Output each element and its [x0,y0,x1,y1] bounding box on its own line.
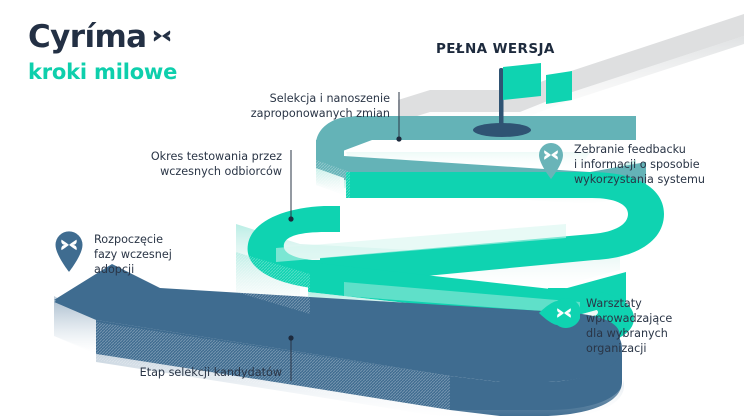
brand-subtitle: kroki milowe [28,62,288,83]
pin-text: Warsztaty wprowadzające dla wybranych or… [586,296,672,356]
callout-text: Okres testowania przez wczesnych odbiorc… [110,150,282,180]
callout-text: Etap selekcji kandydatów [110,366,282,381]
callout-text: Selekcja i nanoszenie zaproponowanych zm… [215,92,390,122]
brand-name: Cyríma [28,22,147,53]
callout-okres-testowania: Okres testowania przez wczesnych odbiorc… [110,150,282,180]
cyrima-x-pin-icon[interactable] [536,140,566,180]
pin-callout-zebranie-feedbacku[interactable]: Zebranie feedbacku i informacji o sposob… [536,140,705,187]
infographic-root: Cyríma kroki milowe PEŁNA WERSJA Selekcj… [0,0,744,418]
callout-selekcja-zmian: Selekcja i nanoszenie zaproponowanych zm… [215,92,390,122]
cyrima-x-pin-icon[interactable] [52,228,86,273]
pin-marker[interactable] [52,228,86,278]
pin-callout-warsztaty[interactable]: Warsztaty wprowadzające dla wybranych or… [538,296,672,356]
callout-etap-selekcji: Etap selekcji kandydatów [110,366,282,381]
pin-text: Zebranie feedbacku i informacji o sposob… [574,142,705,187]
pin-text: Rozpoczęcie fazy wczesnej adopcji [94,232,172,277]
pin-callout-rozpoczecie-adopcji[interactable]: Rozpoczęcie fazy wczesnej adopcji [52,228,172,278]
pin-marker[interactable] [536,140,566,185]
cyrima-x-pin-icon[interactable] [538,296,580,330]
cyrima-x-icon [151,25,173,47]
pin-marker[interactable] [538,296,580,335]
goal-label: PEŁNA WERSJA [436,41,555,57]
brand-block: Cyríma kroki milowe [28,22,288,83]
